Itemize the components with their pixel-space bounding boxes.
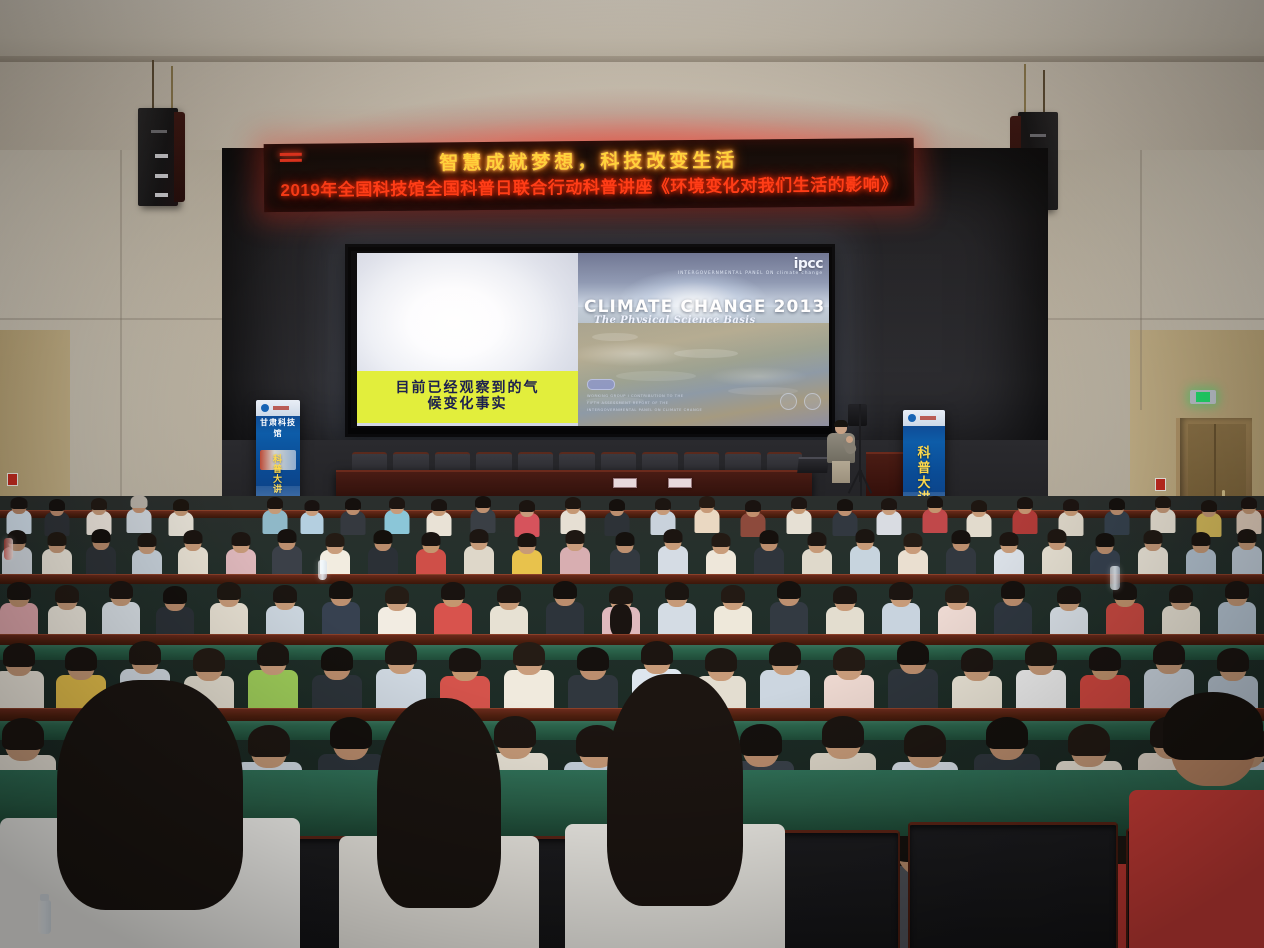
wmo-emblem-icon xyxy=(780,393,797,410)
presenter-legs xyxy=(832,461,850,483)
cover-footer-text: WORKING GROUP I CONTRIBUTION TO THE FIFT… xyxy=(587,393,757,413)
audience-member xyxy=(1016,645,1066,709)
audience-member xyxy=(226,534,256,574)
audience-member xyxy=(786,498,812,530)
seat-back[interactable] xyxy=(908,822,1118,948)
banner-left-char-1: 科 xyxy=(273,456,283,465)
audience-member xyxy=(156,588,194,638)
banner-right-char-2: 普 xyxy=(917,462,930,475)
ipcc-report-cover: ipcc INTERGOVERNMENTAL PANEL ON climate … xyxy=(578,253,829,426)
audience-member xyxy=(1162,587,1200,637)
presenter xyxy=(824,421,858,483)
audience-member xyxy=(994,534,1024,574)
banner-left-char-3: 大 xyxy=(273,476,283,485)
audience-band-2 xyxy=(0,528,1264,576)
audience-member-front xyxy=(1128,704,1264,948)
ipcc-logo-subtitle: INTERGOVERNMENTAL PANEL ON climate chang… xyxy=(678,271,823,276)
audience-member xyxy=(994,583,1032,633)
audience-member xyxy=(210,584,248,634)
audience-member xyxy=(178,532,208,572)
audience-member xyxy=(1050,588,1088,638)
water-bottle xyxy=(4,538,13,560)
audience-member xyxy=(42,534,72,574)
audience-member xyxy=(714,587,752,637)
audience-member xyxy=(1042,531,1072,571)
audience-member xyxy=(850,531,880,571)
exit-icon xyxy=(1196,392,1210,402)
audience-member xyxy=(1150,497,1176,529)
audience-member xyxy=(898,535,928,575)
water-bottle xyxy=(318,560,327,580)
audience-member xyxy=(340,499,366,531)
exit-sign xyxy=(1190,390,1216,404)
audience-member-front xyxy=(334,712,544,948)
audience-member xyxy=(86,499,112,531)
audience-band-3 xyxy=(0,578,1264,636)
audience-member xyxy=(272,531,302,571)
cover-footer-line1: WORKING GROUP I CONTRIBUTION TO THE xyxy=(587,393,757,400)
audience-member xyxy=(376,644,426,708)
presenter-hair xyxy=(834,420,848,427)
audience-member xyxy=(1104,499,1130,531)
audience-member xyxy=(0,584,38,634)
wall-seam-h-right xyxy=(1034,318,1264,320)
audience-member xyxy=(560,498,586,530)
audience-member xyxy=(546,583,584,633)
audience-member xyxy=(434,584,472,634)
audience-member xyxy=(384,498,410,530)
audience-member xyxy=(938,587,976,637)
audience-member xyxy=(694,497,720,529)
cover-emblems xyxy=(780,393,821,410)
fire-alarm-box[interactable] xyxy=(1155,478,1166,491)
banner-right-char-3: 大 xyxy=(917,477,930,490)
audience-member xyxy=(1012,498,1038,530)
name-placard xyxy=(613,478,637,488)
audience-member xyxy=(946,532,976,572)
audience-member xyxy=(132,535,162,575)
ceiling-speaker-array-left xyxy=(138,108,186,206)
audience-member xyxy=(1080,650,1130,714)
wall-seam-left xyxy=(120,150,122,550)
audience-member xyxy=(322,583,360,633)
banner-left-char-2: 普 xyxy=(273,466,283,475)
ipcc-logo: ipcc xyxy=(794,256,823,272)
audience-member xyxy=(826,588,864,638)
auditorium-scene: 智慧成就梦想，科技改变生活 2019年全国科技馆全国科普日联合行动科普讲座《环境… xyxy=(0,0,1264,948)
unep-emblem-icon xyxy=(804,393,821,410)
audience-member xyxy=(602,588,640,638)
audience-member xyxy=(658,531,688,571)
audience-member xyxy=(952,651,1002,715)
water-bottle xyxy=(38,900,51,934)
audience-member xyxy=(490,587,528,637)
audience-member xyxy=(300,501,324,531)
audience-member xyxy=(48,587,86,637)
audience-member xyxy=(560,532,590,572)
cover-footer-line2: FIFTH ASSESSMENT REPORT OF THE xyxy=(587,400,757,407)
fire-alarm-box[interactable] xyxy=(7,473,18,486)
speaker-stand-box xyxy=(848,404,867,426)
audience-member xyxy=(770,583,808,633)
audience-member xyxy=(1186,534,1216,574)
projected-slide: 目前已经观察到的气 候变化事实 ipcc INTERGOVERNMENTAL P… xyxy=(351,251,829,428)
led-scrolling-banner: 智慧成就梦想，科技改变生活 2019年全国科技馆全国科普日联合行动科普讲座《环境… xyxy=(264,138,915,212)
audience-member xyxy=(824,650,874,714)
audience-member xyxy=(378,588,416,638)
audience-member xyxy=(312,650,362,714)
wall-seam-h-left xyxy=(0,318,238,320)
audience-member xyxy=(1218,583,1256,633)
audience-member xyxy=(922,497,948,529)
cover-footer-line3: INTERGOVERNMENTAL PANEL ON CLIMATE CHANG… xyxy=(587,407,757,414)
audience-member xyxy=(1236,498,1262,530)
audience-member xyxy=(802,534,832,574)
audience-member xyxy=(6,498,32,530)
audience-member xyxy=(706,535,736,575)
water-bottle xyxy=(1110,566,1120,590)
audience-member xyxy=(416,534,446,574)
slide-highlight-line1: 目前已经观察到的气 xyxy=(396,381,540,397)
audience-member xyxy=(650,499,676,531)
ceiling xyxy=(0,0,1264,62)
audience-member xyxy=(876,499,902,531)
audience-member xyxy=(102,583,140,633)
audience-member xyxy=(86,531,116,571)
audience-member xyxy=(1106,584,1144,634)
led-banner-line2: 2019年全国科技馆全国科普日联合行动科普讲座《环境变化对我们生活的影响》 xyxy=(264,170,914,201)
audience-member xyxy=(368,532,398,572)
audience-member xyxy=(464,531,494,571)
audience-member xyxy=(504,645,554,709)
roll-up-banner-left: 甘肃科技馆 科 普 大 讲 xyxy=(256,400,300,504)
audience-member xyxy=(266,587,304,637)
presenter-hand xyxy=(846,436,853,443)
audience-member xyxy=(512,535,542,575)
slide-highlight-line2: 候变化事实 xyxy=(428,397,508,413)
audience-member xyxy=(754,532,784,572)
audience-member xyxy=(610,534,640,574)
cover-wg-badge xyxy=(587,379,615,390)
wall-seam-right xyxy=(1140,150,1142,410)
audience-member xyxy=(658,584,696,634)
banner-right-char-1: 科 xyxy=(917,447,930,460)
audience-member xyxy=(126,497,152,529)
audience-member xyxy=(262,498,288,530)
name-placard xyxy=(668,478,692,488)
audience-member xyxy=(470,497,496,529)
audience-member xyxy=(1138,532,1168,572)
projection-screen: 目前已经观察到的气 候变化事实 ipcc INTERGOVERNMENTAL P… xyxy=(345,244,835,437)
audience-member xyxy=(888,644,938,708)
audience-member xyxy=(1232,531,1262,571)
slide-highlight-box: 目前已经观察到的气 候变化事实 xyxy=(357,371,578,423)
audience-member xyxy=(882,584,920,634)
cover-title: CLIMATE CHANGE 2013 xyxy=(584,297,829,317)
bottle-cap xyxy=(40,894,49,901)
audience-member-front xyxy=(560,690,790,948)
